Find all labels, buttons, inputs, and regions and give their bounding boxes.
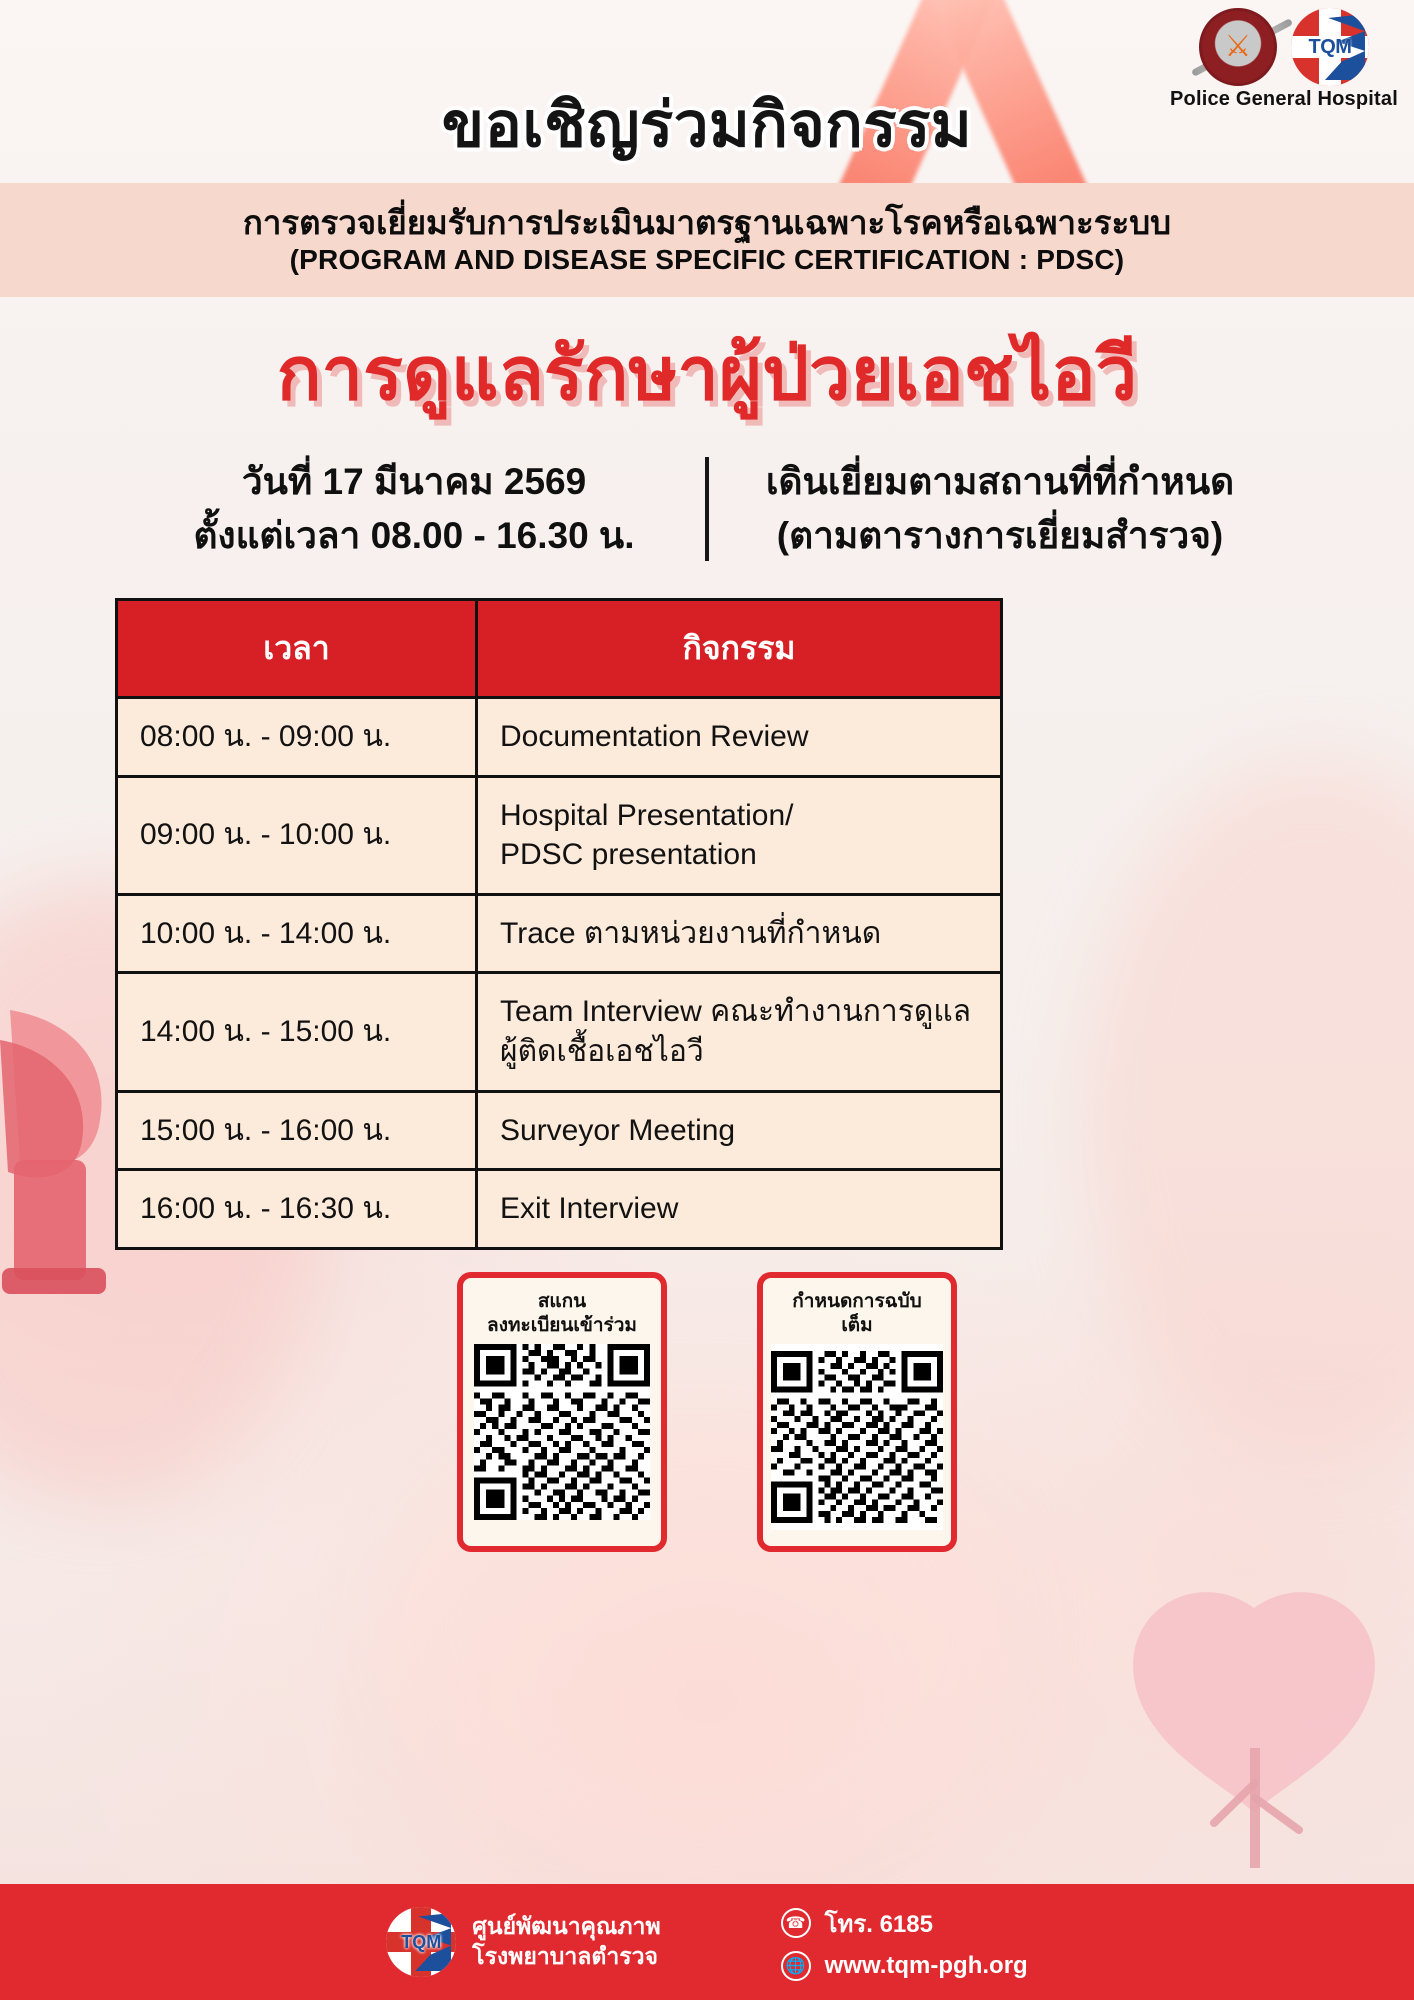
table-row: 16:00 น. - 16:30 น.Exit Interview [117, 1170, 1002, 1249]
footer-bar: TQM ศูนย์พัฒนาคุณภาพ โรงพยาบาลตำรวจ ☎ โท… [0, 1884, 1414, 2000]
schedule-table-wrapper: เวลา กิจกรรม 08:00 น. - 09:00 น.Document… [115, 598, 1003, 1250]
certification-band: การตรวจเยี่ยมรับการประเมินมาตรฐานเฉพาะโร… [0, 183, 1414, 297]
tqm-logo-icon: TQM [1291, 8, 1369, 86]
table-row: 14:00 น. - 15:00 น.Team Interview คณะทำง… [117, 973, 1002, 1091]
event-date: วันที่ 17 มีนาคม 2569 [149, 455, 679, 509]
schedule-cell-activity: Surveyor Meeting [477, 1091, 1002, 1170]
event-place: เดินเยี่ยมตามสถานที่ที่กำหนด (ตามตารางกา… [735, 455, 1265, 562]
footer-phone-row: ☎ โทร. 6185 [781, 1904, 1028, 1943]
table-row: 15:00 น. - 16:00 น.Surveyor Meeting [117, 1091, 1002, 1170]
table-row: 08:00 น. - 09:00 น.Documentation Review [117, 698, 1002, 777]
schedule-cell-time: 09:00 น. - 10:00 น. [117, 776, 477, 894]
tqm-logo-text: TQM [1309, 36, 1352, 59]
schedule-cell-time: 08:00 น. - 09:00 น. [117, 698, 477, 777]
police-general-hospital-seal-icon: ⚔ [1199, 8, 1277, 86]
footer-org-line2: โรงพยาบาลตำรวจ [472, 1942, 660, 1972]
footer-org-line1: ศูนย์พัฒนาคุณภาพ [472, 1912, 660, 1942]
schedule-cell-time: 16:00 น. - 16:30 น. [117, 1170, 477, 1249]
globe-icon: 🌐 [781, 1951, 811, 1981]
schedule-header-activity: กิจกรรม [477, 600, 1002, 698]
footer-website[interactable]: www.tqm-pgh.org [825, 1952, 1028, 1980]
certification-english-title: (PROGRAM AND DISEASE SPECIFIC CERTIFICAT… [290, 244, 1125, 276]
schedule-header-row: เวลา กิจกรรม [117, 600, 1002, 698]
topic-block: การดูแลรักษาผู้ป่วยเอชไอวี [0, 330, 1414, 419]
footer-org-name: ศูนย์พัฒนาคุณภาพ โรงพยาบาลตำรวจ [472, 1912, 660, 1972]
qr-full-schedule-label: กำหนดการฉบับเต็ม [777, 1290, 937, 1338]
header-logos: ⚔ TQM Police General Hospital [1170, 8, 1398, 111]
qr-full-schedule-code[interactable] [771, 1344, 943, 1530]
event-datetime: วันที่ 17 มีนาคม 2569 ตั้งแต่เวลา 08.00 … [149, 455, 679, 562]
event-place-line: เดินเยี่ยมตามสถานที่ที่กำหนด [735, 455, 1265, 509]
meta-divider [705, 457, 709, 561]
table-row: 09:00 น. - 10:00 น.Hospital Presentation… [117, 776, 1002, 894]
schedule-table: เวลา กิจกรรม 08:00 น. - 09:00 น.Document… [115, 598, 1003, 1250]
schedule-header-time: เวลา [117, 600, 477, 698]
tqm-footer-logo-icon: TQM [386, 1907, 456, 1977]
qr-register-code[interactable] [474, 1344, 650, 1520]
footer-contact-block: ☎ โทร. 6185 🌐 www.tqm-pgh.org [781, 1904, 1028, 1981]
event-place-note: (ตามตารางการเยี่ยมสำรวจ) [735, 509, 1265, 563]
tqm-footer-logo-text: TQM [401, 1932, 441, 1953]
schedule-cell-time: 10:00 น. - 14:00 น. [117, 894, 477, 973]
phone-icon: ☎ [781, 1908, 811, 1938]
qr-full-schedule-card[interactable]: กำหนดการฉบับเต็ม [757, 1272, 957, 1552]
certification-thai-title: การตรวจเยี่ยมรับการประเมินมาตรฐานเฉพาะโร… [243, 204, 1171, 242]
schedule-cell-activity: Team Interview คณะทำงานการดูแลผู้ติดเชื้… [477, 973, 1002, 1091]
heart-tree-decoration [1104, 1568, 1404, 1868]
schedule-cell-activity: Exit Interview [477, 1170, 1002, 1249]
footer-phone: โทร. 6185 [825, 1904, 933, 1943]
qr-register-label: สแกนลงทะเบียนเข้าร่วม [487, 1290, 637, 1338]
footer-org-block: TQM ศูนย์พัฒนาคุณภาพ โรงพยาบาลตำรวจ [386, 1907, 660, 1977]
schedule-cell-time: 14:00 น. - 15:00 น. [117, 973, 477, 1091]
qr-code-area: สแกนลงทะเบียนเข้าร่วม [0, 1272, 1414, 1552]
schedule-body: 08:00 น. - 09:00 น.Documentation Review0… [117, 698, 1002, 1249]
hospital-name: Police General Hospital [1170, 88, 1398, 111]
schedule-cell-time: 15:00 น. - 16:00 น. [117, 1091, 477, 1170]
event-meta: วันที่ 17 มีนาคม 2569 ตั้งแต่เวลา 08.00 … [0, 455, 1414, 562]
schedule-cell-activity: Trace ตามหน่วยงานที่กำหนด [477, 894, 1002, 973]
poster-root: ⚔ TQM Police General Hospital ขอเชิญร่วม… [0, 0, 1414, 2000]
page-title: การดูแลรักษาผู้ป่วยเอชไอวี [0, 330, 1414, 419]
qr-register-card[interactable]: สแกนลงทะเบียนเข้าร่วม [457, 1272, 667, 1552]
table-row: 10:00 น. - 14:00 น.Trace ตามหน่วยงานที่ก… [117, 894, 1002, 973]
schedule-cell-activity: Hospital Presentation/PDSC presentation [477, 776, 1002, 894]
event-time: ตั้งแต่เวลา 08.00 - 16.30 น. [149, 509, 679, 563]
schedule-cell-activity: Documentation Review [477, 698, 1002, 777]
footer-website-row[interactable]: 🌐 www.tqm-pgh.org [781, 1951, 1028, 1981]
